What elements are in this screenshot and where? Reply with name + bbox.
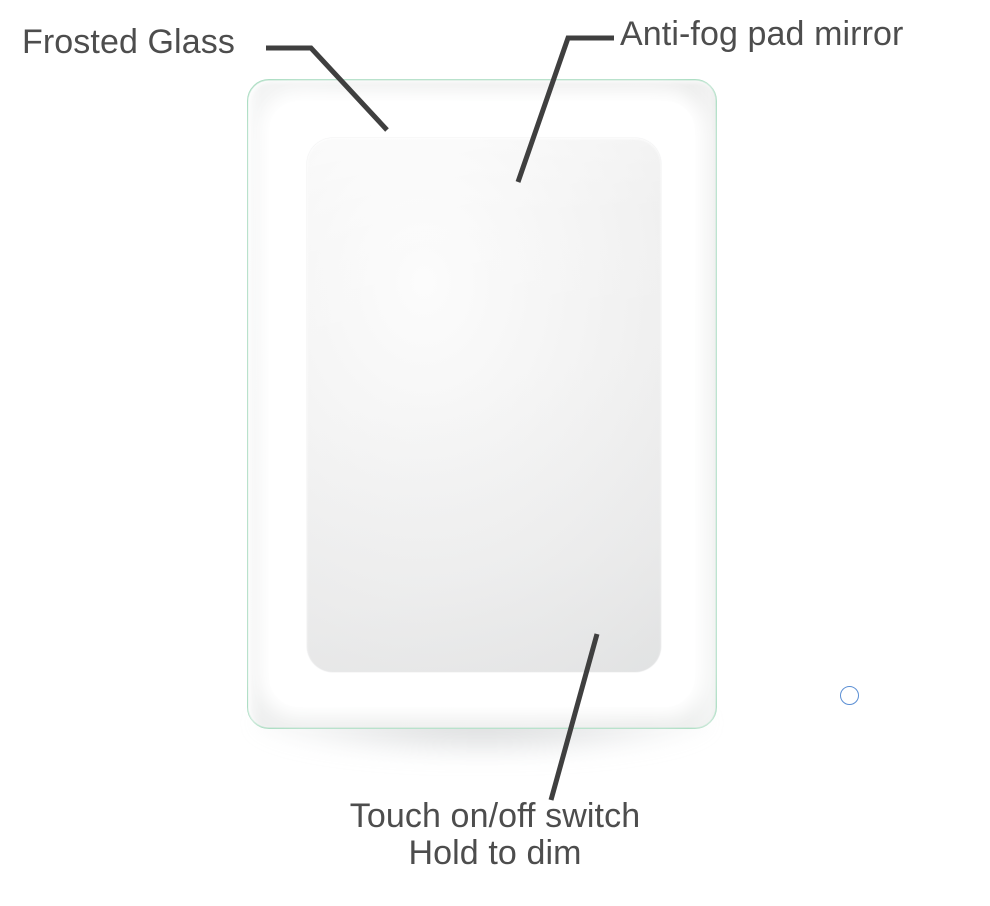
mirror-reflection-overlay — [307, 138, 661, 672]
callout-label-anti-fog: Anti-fog pad mirror — [620, 16, 903, 53]
callout-label-frosted-glass: Frosted Glass — [22, 24, 235, 61]
anti-fog-mirror-surface — [307, 138, 661, 672]
diagram-canvas: Frosted Glass Anti-fog pad mirror Touch … — [0, 0, 990, 906]
callout-label-touch-switch-line-2: Hold to dim — [0, 835, 990, 872]
callout-label-touch-switch-line-1: Touch on/off switch — [350, 797, 640, 835]
led-mirror-assembly — [247, 79, 717, 729]
touch-switch-sensor[interactable] — [840, 686, 859, 705]
callout-label-touch-switch: Touch on/off switch Hold to dim — [0, 798, 990, 871]
